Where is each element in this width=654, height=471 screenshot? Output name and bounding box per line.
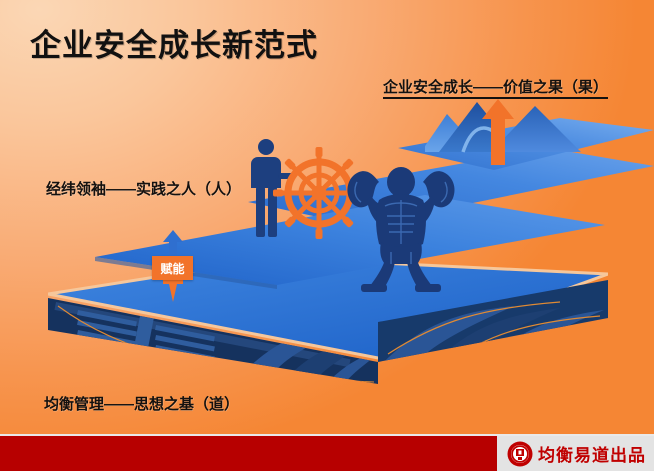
footer-red-bar: [0, 436, 497, 471]
footer: 均衡易道出品: [0, 436, 654, 471]
empower-badge[interactable]: 赋能: [152, 256, 193, 280]
ships-wheel-icon: [249, 137, 359, 254]
footer-brand: 均衡易道出品: [497, 436, 654, 471]
footer-brand-text: 均衡易道出品: [538, 441, 646, 466]
label-value-fruit: 企业安全成长——价值之果（果）: [383, 76, 608, 97]
empower-down-arrow-icon: [163, 276, 183, 307]
page-title: 企业安全成长新范式: [30, 20, 318, 65]
strongman-icon: [345, 152, 457, 297]
slide-canvas: 企业安全成长新范式: [0, 0, 654, 471]
growth-arrow-icon: [481, 99, 515, 170]
label-value-fruit-text: 企业安全成长——价值之果（果）: [383, 79, 608, 99]
label-thought-foundation: 均衡管理——思想之基（道）: [44, 393, 239, 414]
balance-yidao-logo-icon: [507, 441, 533, 467]
